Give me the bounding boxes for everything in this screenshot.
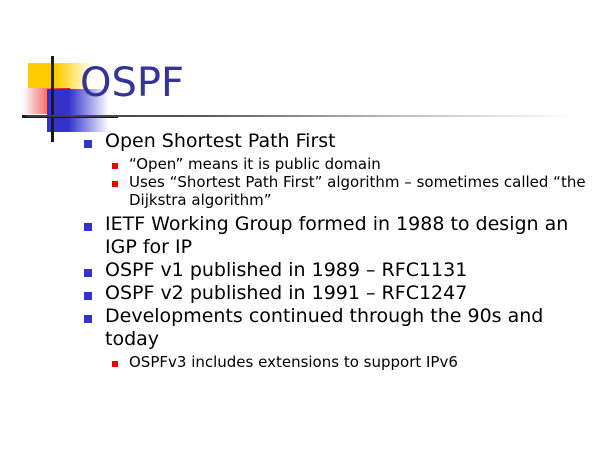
list-item: OSPF v2 published in 1991 – RFC1247 <box>84 282 592 305</box>
bullet-square-icon <box>112 163 118 169</box>
list-item-label: OSPF v2 published in 1991 – RFC1247 <box>105 282 467 305</box>
sub-list-group: “Open” means it is public domain Uses “S… <box>84 155 592 209</box>
bullet-square-icon <box>84 269 92 277</box>
list-item: IETF Working Group formed in 1988 to des… <box>84 213 592 259</box>
list-item-label: IETF Working Group formed in 1988 to des… <box>105 213 592 259</box>
list-item-label: OSPF v1 published in 1989 – RFC1131 <box>105 259 467 282</box>
list-item-label: Developments continued through the 90s a… <box>105 305 592 351</box>
bullet-square-icon <box>112 361 118 367</box>
sub-list-group: OSPFv3 includes extensions to support IP… <box>84 353 592 371</box>
bullet-square-icon <box>84 292 92 300</box>
list-item-label: Uses “Shortest Path First” algorithm – s… <box>129 173 592 209</box>
list-item: “Open” means it is public domain <box>112 155 592 173</box>
list-item-label: “Open” means it is public domain <box>129 155 381 173</box>
list-item-label: Open Shortest Path First <box>105 130 336 153</box>
bullet-square-icon <box>84 140 92 148</box>
slide-title: OSPF <box>80 60 184 106</box>
list-item-label: OSPFv3 includes extensions to support IP… <box>129 353 458 371</box>
list-item: Open Shortest Path First <box>84 130 592 153</box>
bullet-square-icon <box>84 315 92 323</box>
slide-canvas: OSPF Open Shortest Path First “Open” mea… <box>0 0 600 450</box>
title-underline-rule <box>26 115 571 117</box>
bullet-square-icon <box>112 181 118 187</box>
decoration-vertical-line <box>51 56 54 142</box>
bullet-square-icon <box>84 223 92 231</box>
list-item: OSPFv3 includes extensions to support IP… <box>112 353 592 371</box>
list-item: Developments continued through the 90s a… <box>84 305 592 351</box>
list-item: Uses “Shortest Path First” algorithm – s… <box>112 173 592 209</box>
slide-body: Open Shortest Path First “Open” means it… <box>84 130 592 375</box>
list-item: OSPF v1 published in 1989 – RFC1131 <box>84 259 592 282</box>
